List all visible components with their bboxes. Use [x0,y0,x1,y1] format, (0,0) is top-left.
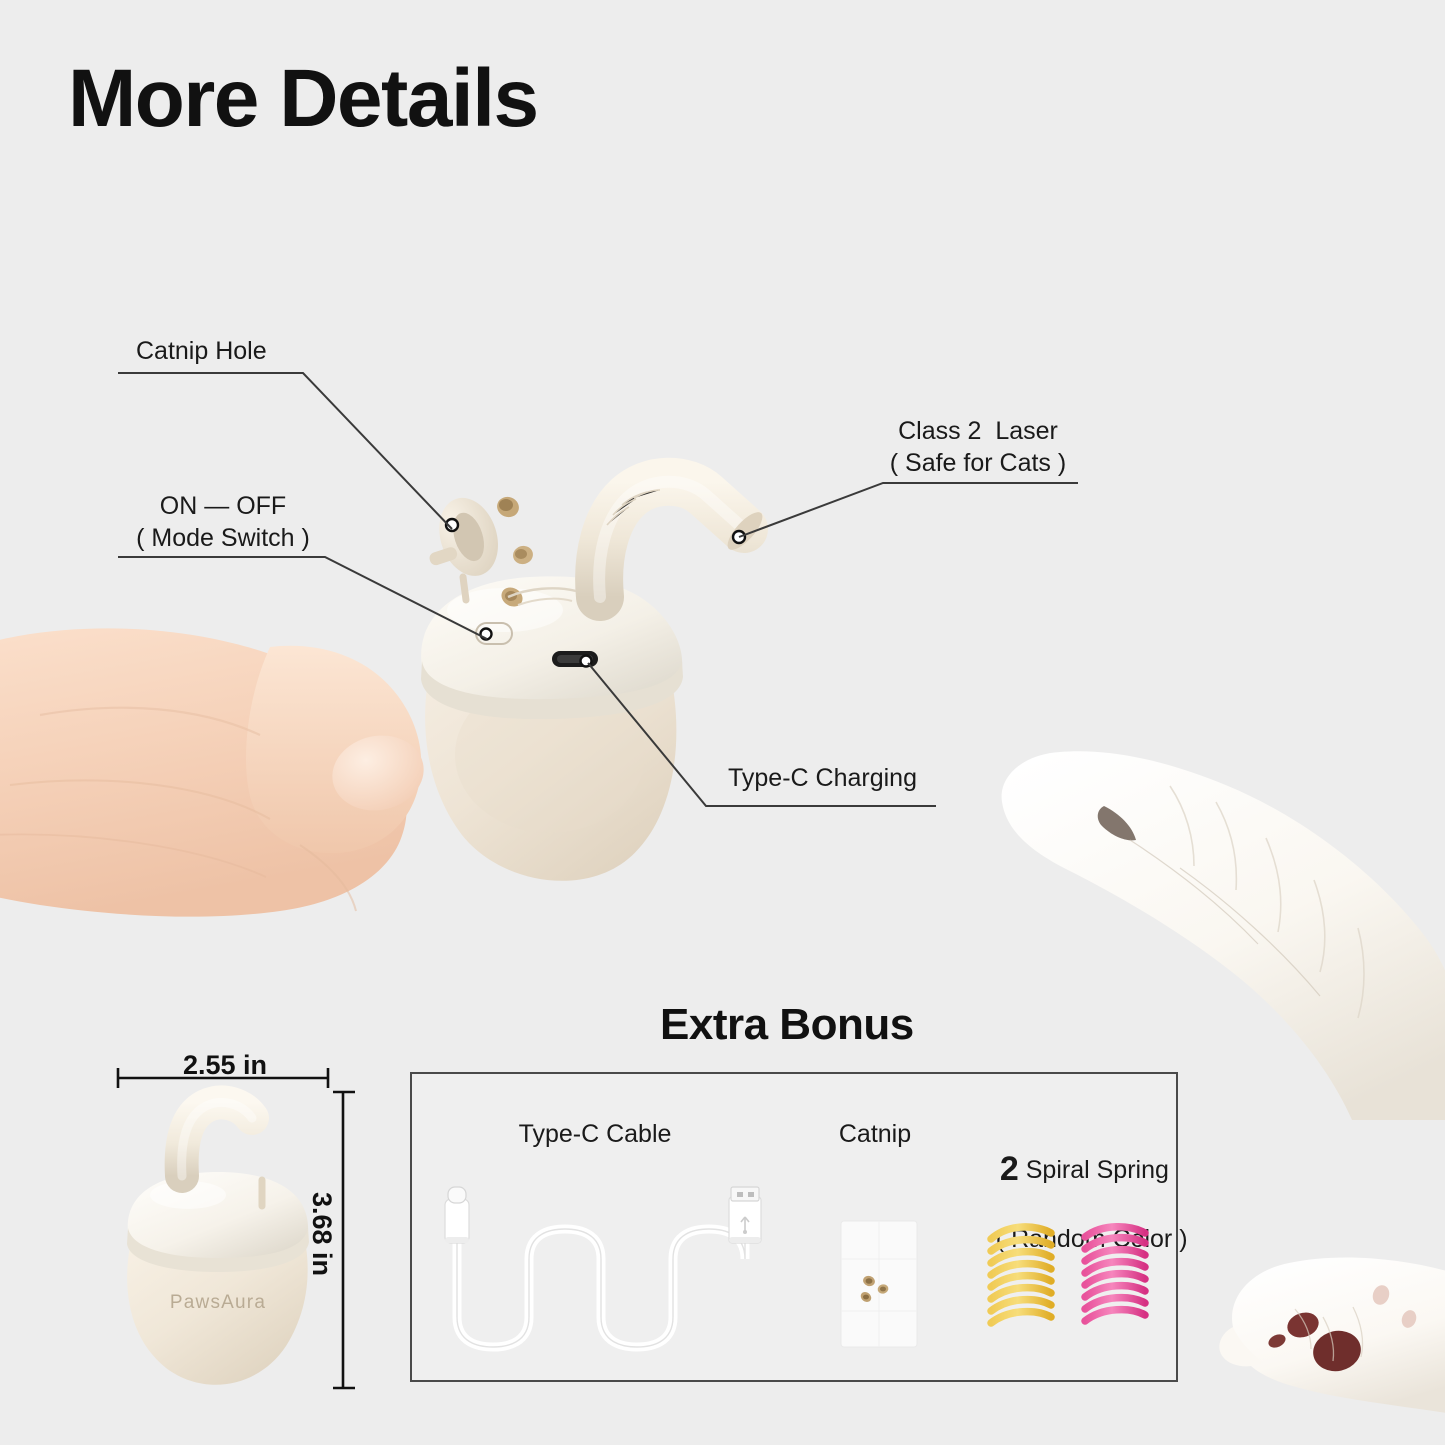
callout-catnip-hole: Catnip Hole [136,335,267,367]
cat-paw-lower [1185,1245,1445,1445]
type-c-cable-illustration [425,1185,785,1365]
spiral-springs-illustration [975,1215,1165,1345]
catnip-bag-illustration [835,1215,923,1353]
bonus-label-cable: Type-C Cable [460,1118,730,1151]
callout-laser: Class 2 Laser ( Safe for Cats ) [878,415,1078,479]
product-detail-infographic: More Details [0,0,1445,1445]
callout-type-c: Type-C Charging [728,762,917,794]
dimension-width-label: 2.55 in [183,1050,267,1081]
cat-paw-upper [980,690,1445,1120]
page-title: More Details [68,58,538,140]
product-hero [400,455,790,905]
bonus-spring-count: 2 [1000,1150,1019,1188]
bonus-label-catnip: Catnip [800,1118,950,1151]
bonus-spring-text: Spiral Spring [1019,1156,1169,1184]
callout-mode-switch: ON — OFF ( Mode Switch ) [118,490,328,554]
extra-bonus-heading: Extra Bonus [660,1000,914,1050]
dimension-height-label: 3.68 in [306,1192,337,1276]
